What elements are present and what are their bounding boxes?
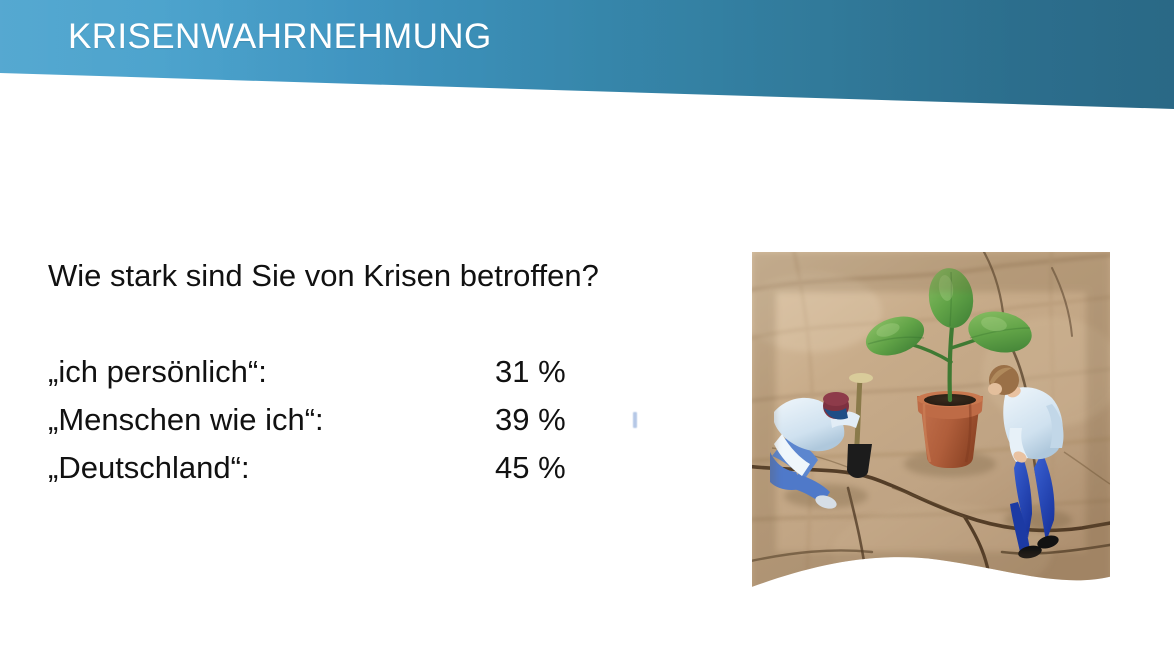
stat-value-deutschland: 45 % [495, 444, 566, 492]
survey-question: Wie stark sind Sie von Krisen betroffen? [48, 256, 728, 296]
stat-value-menschen-wie-ich: 39 % [495, 396, 566, 444]
slide-canvas: KRISENWAHRNEHMUNG Wie stark sind Sie von… [0, 0, 1174, 651]
table-row: „Deutschland“: 45 % [48, 444, 566, 492]
miniature-figures-planting-seedling-photo [752, 252, 1110, 592]
stat-label-ich-persoenlich: „ich persönlich“: [48, 348, 495, 396]
stat-value-ich-persoenlich: 31 % [495, 348, 566, 396]
flower-pot [917, 391, 983, 468]
stat-label-deutschland: „Deutschland“: [48, 444, 495, 492]
page-title: KRISENWAHRNEHMUNG [68, 16, 492, 58]
text-cursor-artifact [633, 412, 637, 428]
stats-table: „ich persönlich“: 31 % „Menschen wie ich… [48, 348, 566, 492]
photo-wave-mask [752, 252, 1110, 592]
content-block: Wie stark sind Sie von Krisen betroffen?… [48, 256, 728, 492]
table-row: „Menschen wie ich“: 39 % [48, 396, 566, 444]
stat-label-menschen-wie-ich: „Menschen wie ich“: [48, 396, 495, 444]
photo-frame: Zwei Miniaturfiguren pflanzen einen Säml… [752, 252, 1110, 592]
table-row: „ich persönlich“: 31 % [48, 348, 566, 396]
